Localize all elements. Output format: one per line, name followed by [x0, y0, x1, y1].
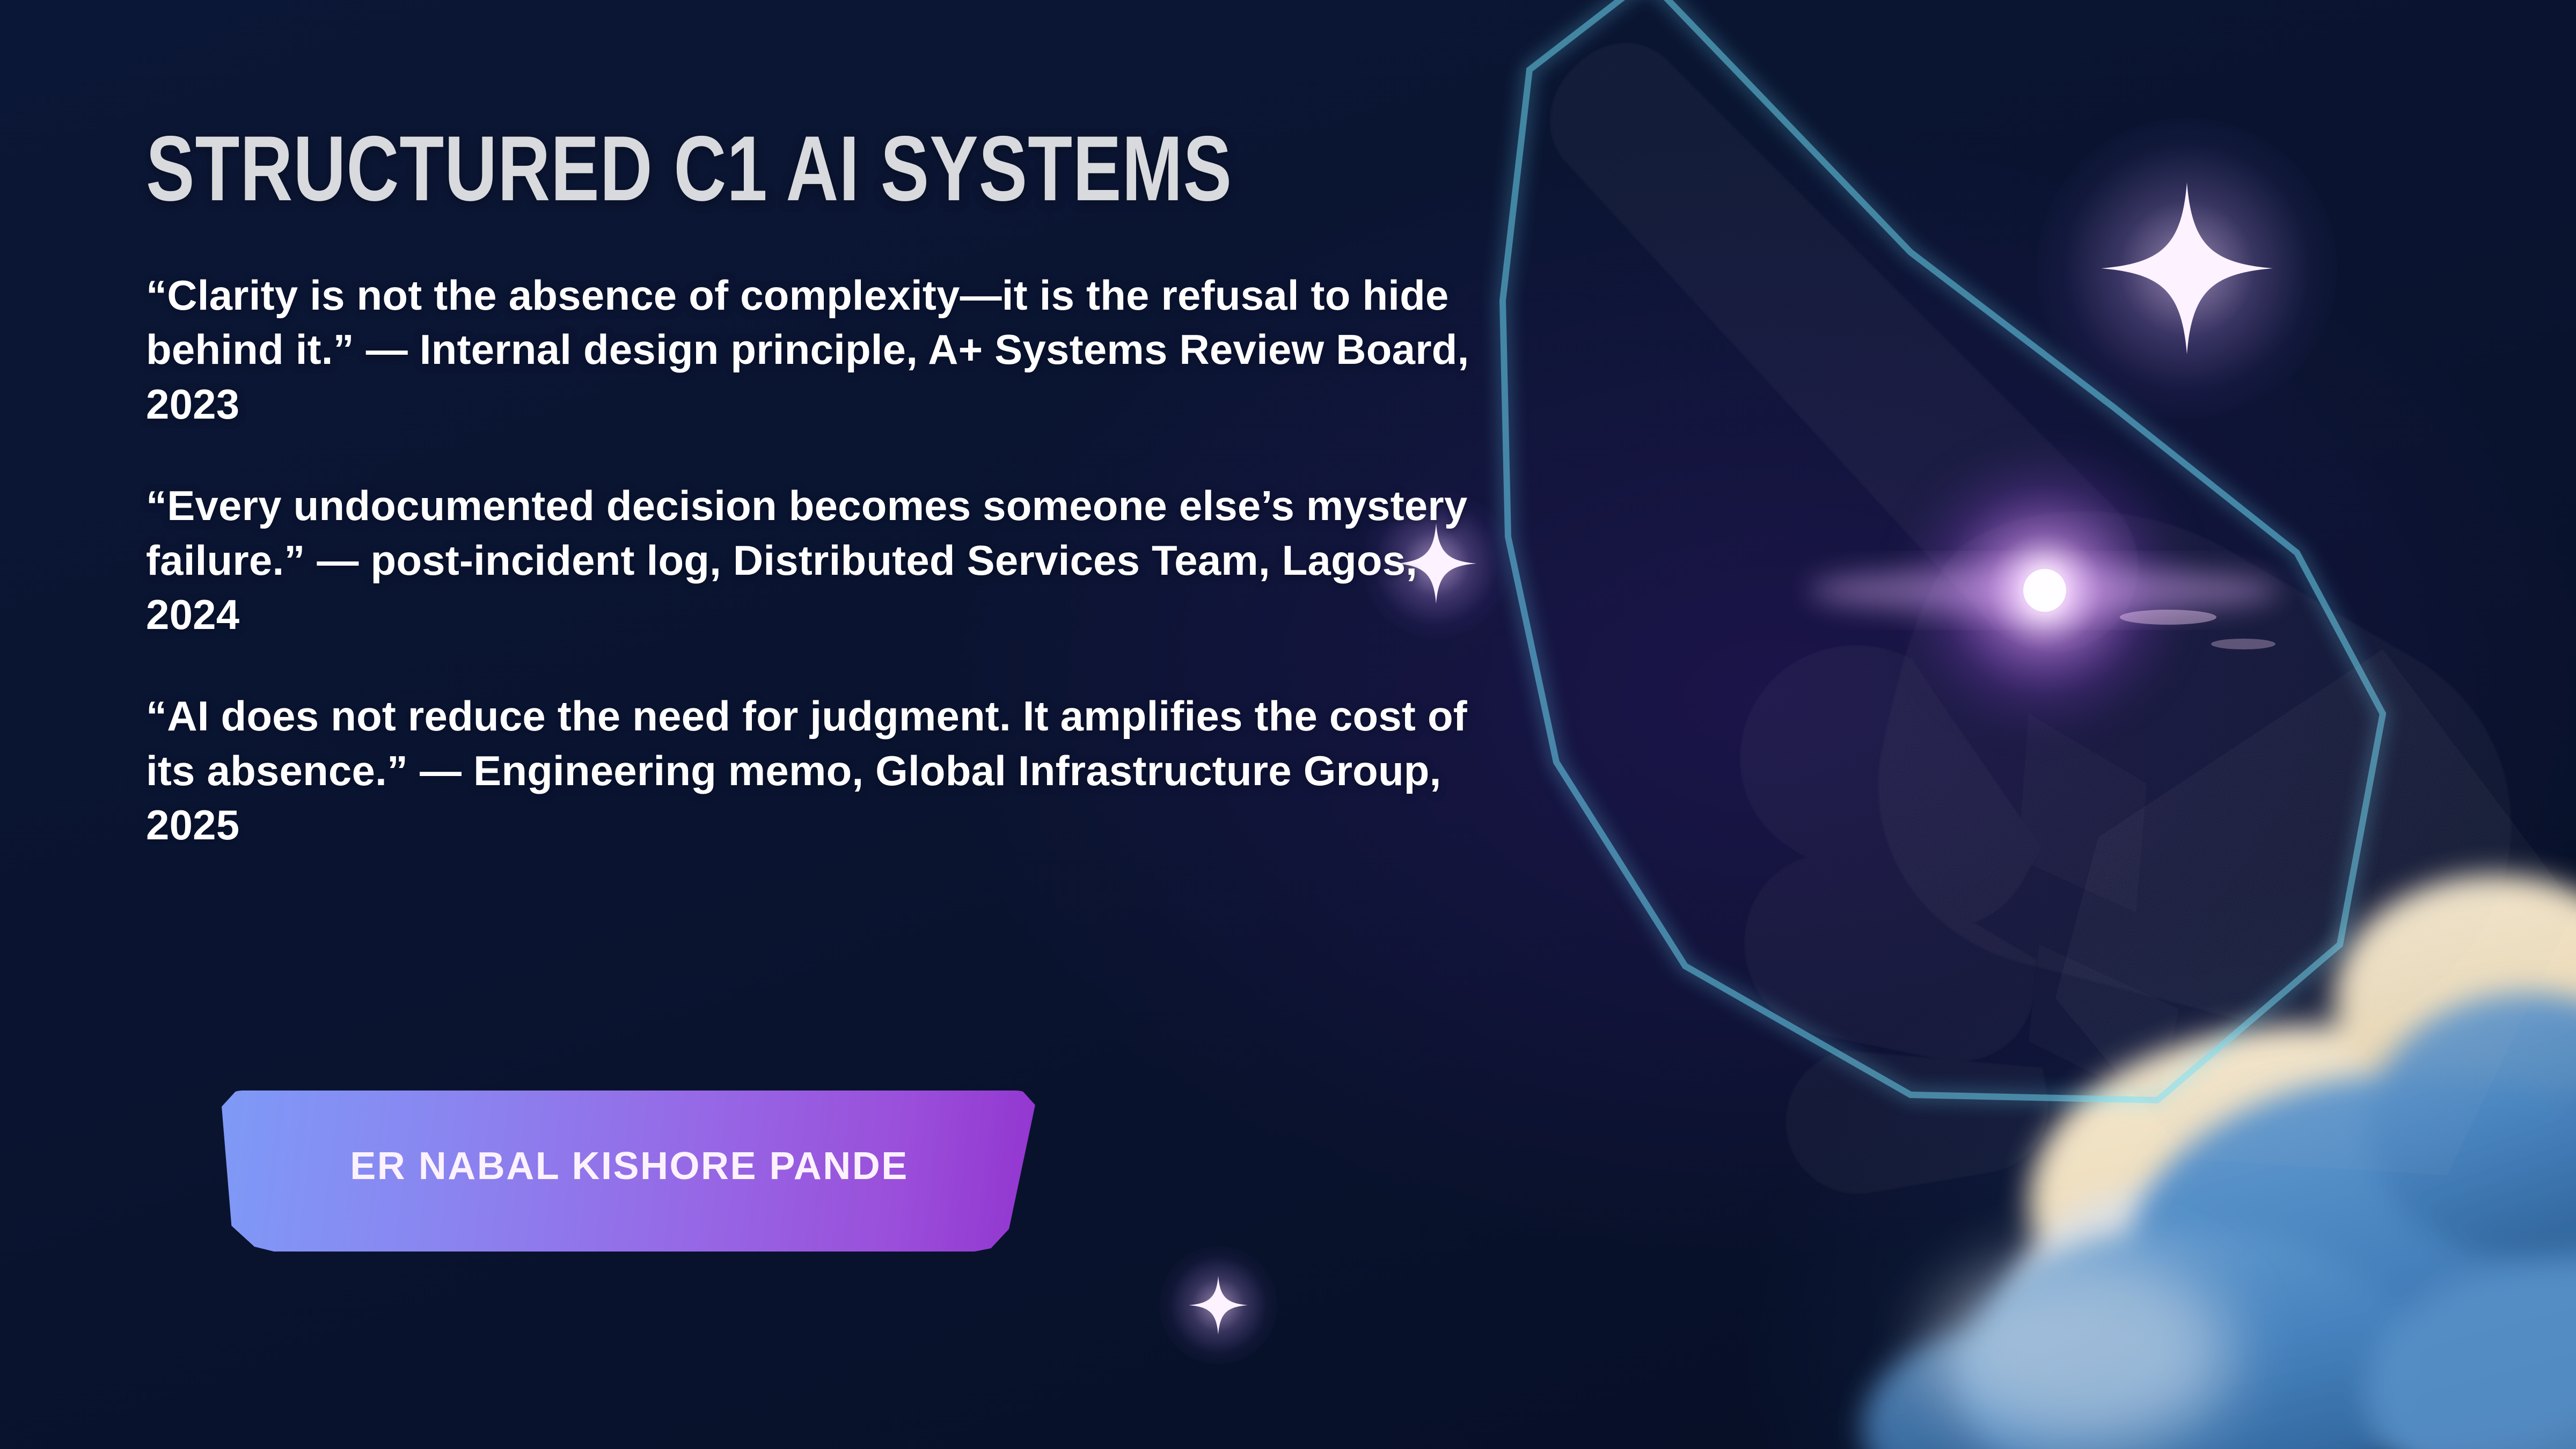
text-column: STRUCTURED C1 AI SYSTEMS “Clarity is not…	[146, 122, 1520, 853]
author-cta-button[interactable]: ER NABAL KISHORE PANDE	[220, 1091, 1038, 1252]
quote-item-1: “Clarity is not the absence of complexit…	[146, 268, 1509, 431]
poster-canvas: STRUCTURED C1 AI SYSTEMS “Clarity is not…	[0, 0, 2576, 1449]
quote-list: “Clarity is not the absence of complexit…	[146, 268, 1520, 853]
page-title: STRUCTURED C1 AI SYSTEMS	[146, 122, 1424, 215]
quote-item-2: “Every undocumented decision becomes som…	[146, 479, 1509, 642]
quote-item-3: “AI does not reduce the need for judgmen…	[146, 689, 1509, 852]
cta-label: ER NABAL KISHORE PANDE	[220, 1091, 1038, 1252]
